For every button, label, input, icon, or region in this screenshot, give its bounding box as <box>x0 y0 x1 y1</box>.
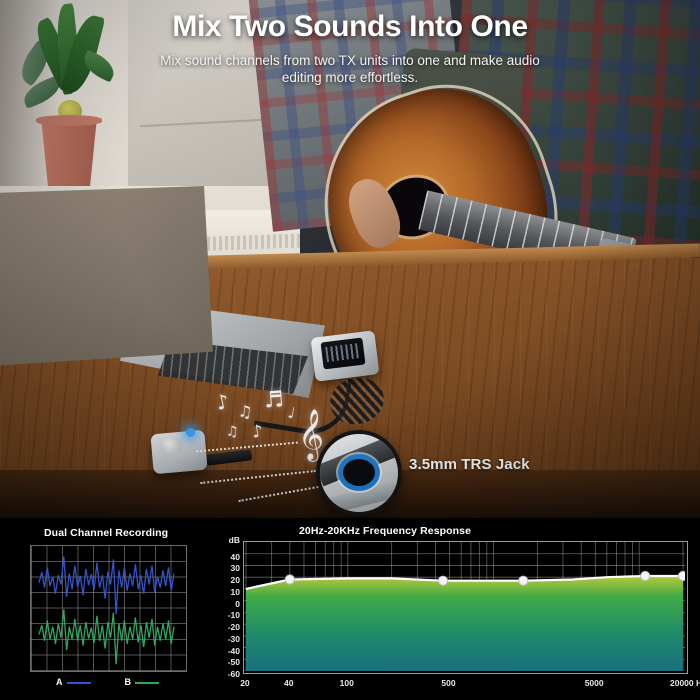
frequency-response-plot <box>244 542 685 671</box>
rx-unit-led-indicator <box>186 428 195 437</box>
page-subtitle: Mix sound channels from two TX units int… <box>140 52 560 86</box>
x-axis-unit-label: Hz <box>696 678 700 688</box>
y-axis-tick: -20 <box>228 623 240 632</box>
plant-pot <box>38 118 100 186</box>
dual-channel-chart <box>30 545 187 672</box>
y-axis-tick: -50 <box>228 658 240 667</box>
magnifier-circle-icon <box>316 430 402 516</box>
y-axis-tick: -10 <box>228 611 240 620</box>
y-axis-tick: -60 <box>228 670 240 679</box>
y-axis-tick: 0 <box>235 600 240 609</box>
y-axis-unit-label: dB <box>229 536 240 545</box>
plant-pot-rim <box>36 115 102 126</box>
x-axis-tick: 20000 <box>670 678 694 688</box>
scope-waveforms <box>31 546 184 669</box>
frequency-y-axis: dB403020100-10-20-30-40-50-60 <box>218 536 240 676</box>
y-axis-tick: -30 <box>228 635 240 644</box>
dual-channel-legend: A B <box>30 677 185 687</box>
trs-jack-port <box>343 459 375 486</box>
trs-jack-callout-label: 3.5mm TRS Jack <box>409 456 530 473</box>
dual-channel-chart-title: Dual Channel Recording <box>44 527 168 539</box>
product-infographic: ♪ ♫ ♬ ♩ ♪ ♫ 𝄞 3.5mm TRS Jack Mix Two Sou… <box>0 0 700 700</box>
y-axis-tick: -40 <box>228 647 240 656</box>
legend-swatch-a <box>67 682 91 684</box>
legend-item-b: B <box>125 677 160 687</box>
legend-item-a: A <box>56 677 91 687</box>
x-axis-tick: 20 <box>240 678 249 688</box>
y-axis-tick: 10 <box>231 588 240 597</box>
frequency-response-chart <box>243 541 688 674</box>
x-axis-tick: 500 <box>441 678 455 688</box>
x-axis-tick: 5000 <box>585 678 604 688</box>
legend-label-a: A <box>56 677 63 687</box>
frequency-response-chart-title: 20Hz-20KHz Frequency Response <box>299 525 471 537</box>
laptop-lid <box>0 186 213 366</box>
y-axis-tick: 20 <box>231 576 240 585</box>
lifestyle-photo: ♪ ♫ ♬ ♩ ♪ ♫ 𝄞 3.5mm TRS Jack Mix Two Sou… <box>0 0 700 518</box>
header: Mix Two Sounds Into One Mix sound channe… <box>0 0 700 86</box>
frequency-x-axis: 2040100500500020000Hz <box>243 678 698 692</box>
x-axis-tick: 40 <box>284 678 293 688</box>
page-title: Mix Two Sounds Into One <box>0 10 700 44</box>
y-axis-tick: 30 <box>231 564 240 573</box>
legend-label-b: B <box>125 677 132 687</box>
legend-swatch-b <box>135 682 159 684</box>
y-axis-tick: 40 <box>231 553 240 562</box>
x-axis-tick: 100 <box>340 678 354 688</box>
